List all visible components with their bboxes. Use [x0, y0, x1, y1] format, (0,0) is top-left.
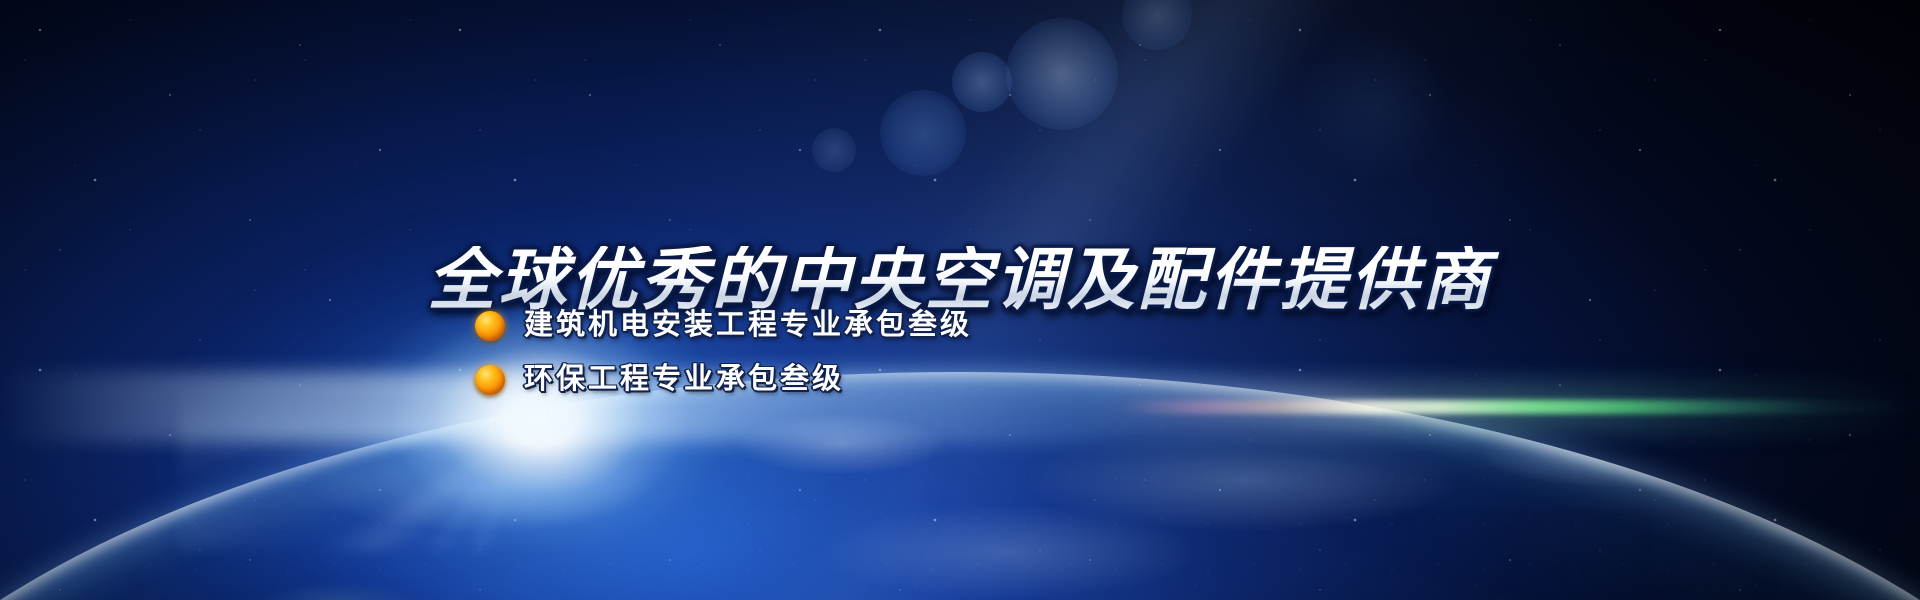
feature-label: 建筑机电安装工程专业承包叁级	[524, 310, 972, 342]
list-item: 建筑机电安装工程专业承包叁级	[475, 310, 972, 342]
banner-feature-list: 建筑机电安装工程专业承包叁级 环保工程专业承包叁级	[475, 310, 972, 418]
orange-sphere-bullet-icon	[475, 311, 505, 341]
orange-sphere-bullet-icon	[475, 365, 505, 395]
banner-content: 全球优秀的中央空调及配件提供商 建筑机电安装工程专业承包叁级 环保工程专业承包叁…	[0, 0, 1920, 600]
hero-banner: 全球优秀的中央空调及配件提供商 建筑机电安装工程专业承包叁级 环保工程专业承包叁…	[0, 0, 1920, 600]
feature-label: 环保工程专业承包叁级	[524, 364, 844, 396]
banner-headline: 全球优秀的中央空调及配件提供商	[0, 246, 1920, 314]
list-item: 环保工程专业承包叁级	[475, 364, 972, 396]
